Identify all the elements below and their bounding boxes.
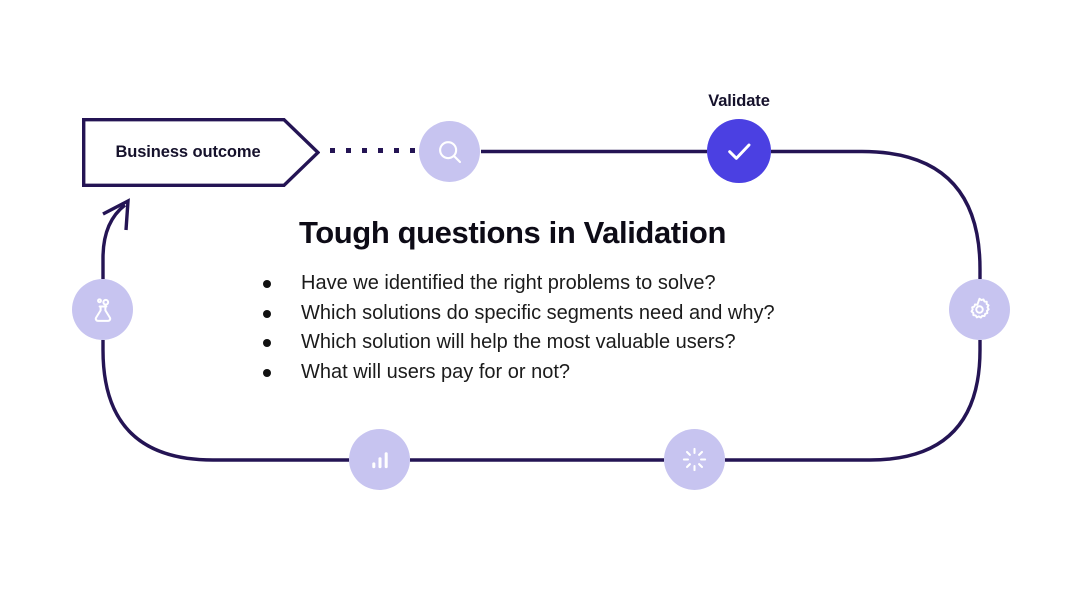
connector-dot — [394, 148, 399, 153]
bullet-dot-icon — [263, 310, 271, 318]
diagram-canvas: Business outcome Validate — [0, 0, 1087, 612]
questions-list: Have we identified the right problems to… — [255, 269, 895, 387]
stage-node-spinner[interactable] — [664, 429, 725, 490]
connector-dot — [378, 148, 383, 153]
list-item-text: Which solutions do specific segments nee… — [301, 302, 775, 324]
flask-icon — [88, 295, 118, 325]
bar-chart-icon — [366, 446, 394, 474]
stage-node-flask[interactable] — [72, 279, 133, 340]
stage-node-validate-label: Validate — [640, 92, 838, 111]
business-outcome-banner: Business outcome — [82, 118, 320, 187]
page-title: Tough questions in Validation — [299, 214, 895, 251]
gear-icon — [965, 295, 994, 324]
list-item: Which solutions do specific segments nee… — [255, 299, 895, 329]
bullet-dot-icon — [263, 339, 271, 347]
list-item-text: What will users pay for or not? — [301, 361, 570, 383]
list-item-text: Have we identified the right problems to… — [301, 272, 716, 294]
connector-dot — [362, 148, 367, 153]
bullet-dot-icon — [263, 280, 271, 288]
connector-dot — [346, 148, 351, 153]
content-block: Tough questions in Validation Have we id… — [255, 214, 895, 387]
spinner-icon — [680, 445, 709, 474]
connector-dot — [410, 148, 415, 153]
check-icon — [723, 135, 755, 167]
stage-node-search[interactable] — [419, 121, 480, 182]
loop-segment-left-up — [103, 205, 125, 279]
bullet-dot-icon — [263, 369, 271, 377]
business-outcome-label: Business outcome — [82, 118, 294, 187]
dotted-connector — [330, 148, 416, 156]
search-icon — [435, 137, 465, 167]
stage-node-bar-chart[interactable] — [349, 429, 410, 490]
list-item: Have we identified the right problems to… — [255, 269, 895, 299]
stage-node-gear[interactable] — [949, 279, 1010, 340]
list-item-text: Which solution will help the most valuab… — [301, 331, 736, 353]
list-item: What will users pay for or not? — [255, 358, 895, 388]
stage-node-validate[interactable] — [707, 119, 771, 183]
connector-dot — [330, 148, 335, 153]
list-item: Which solution will help the most valuab… — [255, 328, 895, 358]
